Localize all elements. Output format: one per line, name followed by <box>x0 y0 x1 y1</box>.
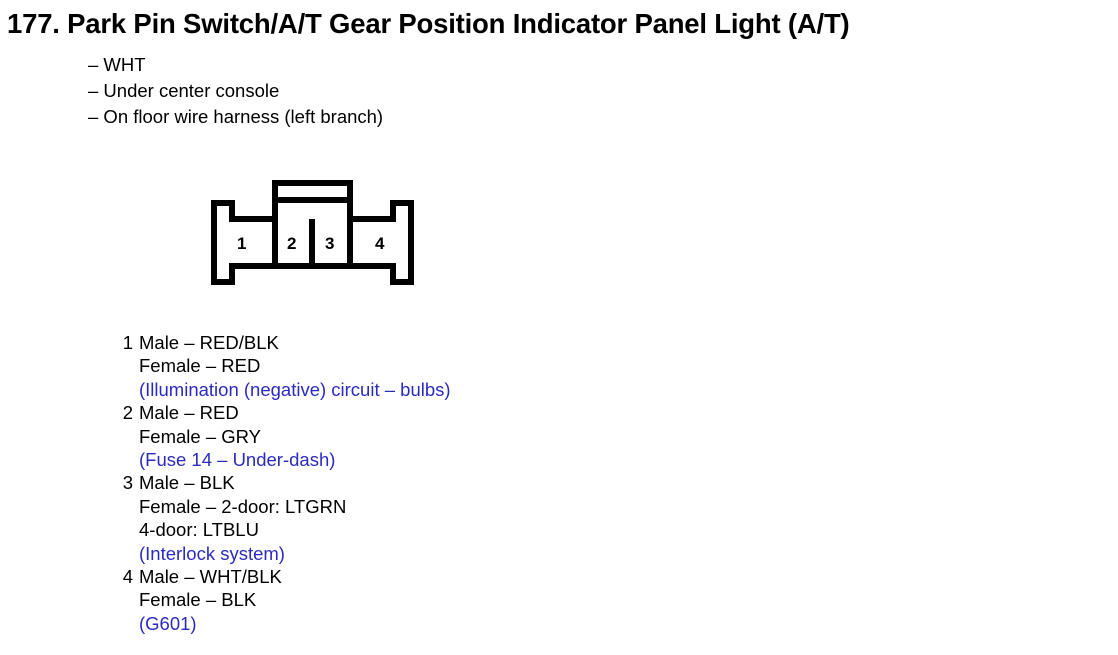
pin-female-wire-4: Female – BLK <box>139 588 451 611</box>
pin-description-list: 1 Male – RED/BLK Female – RED (Illuminat… <box>110 331 451 635</box>
pin-index-2: 2 <box>119 401 133 424</box>
pin-male-wire-1: Male – RED/BLK <box>139 331 451 354</box>
pin-entry-2: 2 Male – RED Female – GRY (Fuse 14 – Und… <box>110 401 451 471</box>
subtitle-line-wire-color: – WHT <box>88 52 383 78</box>
pin-female-wire-3-alt: 4-door: LTBLU <box>139 518 451 541</box>
connector-diagram: 1 2 3 4 <box>205 175 420 290</box>
subtitle-line-location: – Under center console <box>88 78 383 104</box>
pin-entry-3: 3 Male – BLK Female – 2-door: LTGRN 4-do… <box>110 471 451 565</box>
pin-index-3: 3 <box>119 471 133 494</box>
connector-pin-label-3: 3 <box>325 234 334 253</box>
subtitle-list: – WHT – Under center console – On floor … <box>88 52 383 130</box>
pin-circuit-2: (Fuse 14 – Under-dash) <box>139 448 451 471</box>
pin-index-4: 4 <box>119 565 133 588</box>
page-title: 177. Park Pin Switch/A/T Gear Position I… <box>7 7 850 41</box>
pin-female-wire-2: Female – GRY <box>139 425 451 448</box>
pin-male-wire-4: Male – WHT/BLK <box>139 565 451 588</box>
pin-index-1: 1 <box>119 331 133 354</box>
pin-male-wire-2: Male – RED <box>139 401 451 424</box>
subtitle-line-harness: – On floor wire harness (left branch) <box>88 104 383 130</box>
connector-pin-label-4: 4 <box>375 234 385 253</box>
connector-svg: 1 2 3 4 <box>205 175 420 290</box>
connector-pin-label-1: 1 <box>237 234 246 253</box>
pin-circuit-3: (Interlock system) <box>139 542 451 565</box>
pin-female-wire-1: Female – RED <box>139 354 451 377</box>
pin-entry-1: 1 Male – RED/BLK Female – RED (Illuminat… <box>110 331 451 401</box>
pin-female-wire-3: Female – 2-door: LTGRN <box>139 495 451 518</box>
pin-male-wire-3: Male – BLK <box>139 471 451 494</box>
connector-pin-label-2: 2 <box>287 234 296 253</box>
pin-circuit-1: (Illumination (negative) circuit – bulbs… <box>139 378 451 401</box>
pin-entry-4: 4 Male – WHT/BLK Female – BLK (G601) <box>110 565 451 635</box>
pin-circuit-4: (G601) <box>139 612 451 635</box>
